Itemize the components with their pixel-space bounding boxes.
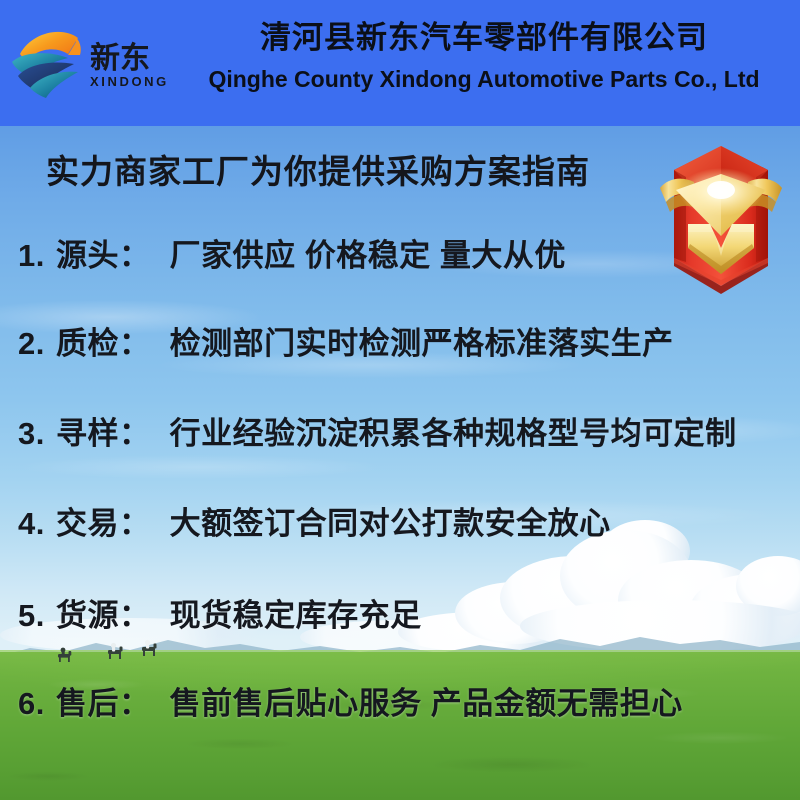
benefit-key: 质检： bbox=[56, 326, 151, 361]
benefit-item-3: 3. 寻样： 行业经验沉淀积累各种规格型号均可定制 bbox=[18, 408, 737, 453]
header-banner: 新东 XINDONG 清河县新东汽车零部件有限公司 Qinghe County … bbox=[0, 0, 800, 126]
benefit-text: 厂家供应 价格稳定 量大从优 bbox=[170, 238, 566, 273]
benefit-key: 源头： bbox=[56, 238, 151, 273]
benefit-key: 售后： bbox=[56, 686, 151, 721]
benefit-text: 检测部门实时检测严格标准落实生产 bbox=[170, 326, 674, 361]
brand-logo[interactable]: 新东 XINDONG bbox=[8, 24, 168, 102]
benefit-text: 行业经验沉淀积累各种规格型号均可定制 bbox=[170, 416, 737, 451]
benefit-text: 售前售后贴心服务 产品金额无需担心 bbox=[170, 686, 683, 721]
benefit-key: 寻样： bbox=[56, 416, 151, 451]
benefit-number: 4. bbox=[18, 506, 45, 541]
promo-poster: 新东 XINDONG 清河县新东汽车零部件有限公司 Qinghe County … bbox=[0, 0, 800, 800]
benefit-number: 5. bbox=[18, 598, 45, 633]
power-merchant-medal-icon bbox=[648, 132, 794, 300]
swoosh-globe-icon bbox=[12, 32, 81, 98]
benefit-text: 现货稳定库存充足 bbox=[170, 598, 422, 633]
benefit-number: 3. bbox=[18, 416, 45, 451]
benefit-key: 交易： bbox=[56, 506, 151, 541]
benefit-key: 货源： bbox=[56, 598, 151, 633]
company-name-cn: 清河县新东汽车零部件有限公司 bbox=[168, 14, 800, 62]
benefit-text: 大额签订合同对公打款安全放心 bbox=[170, 506, 611, 541]
logo-wordmark-cn: 新东 bbox=[90, 41, 150, 75]
benefit-number: 2. bbox=[18, 326, 45, 361]
banner-titles: 清河县新东汽车零部件有限公司 Qinghe County Xindong Aut… bbox=[168, 14, 800, 96]
company-name-en: Qinghe County Xindong Automotive Parts C… bbox=[168, 62, 800, 96]
benefit-number: 6. bbox=[18, 686, 45, 721]
benefit-item-6: 6. 售后： 售前售后贴心服务 产品金额无需担心 bbox=[18, 678, 683, 723]
benefit-number: 1. bbox=[18, 238, 45, 273]
benefit-item-4: 4. 交易： 大额签订合同对公打款安全放心 bbox=[18, 498, 611, 543]
grassland-foreground bbox=[0, 652, 800, 800]
page-title: 实力商家工厂为你提供采购方案指南 bbox=[46, 145, 590, 193]
benefit-item-1: 1. 源头： 厂家供应 价格稳定 量大从优 bbox=[18, 230, 566, 275]
logo-wordmark-en: XINDONG bbox=[90, 74, 168, 89]
benefit-item-5: 5. 货源： 现货稳定库存充足 bbox=[18, 590, 422, 635]
benefit-item-2: 2. 质检： 检测部门实时检测严格标准落实生产 bbox=[18, 318, 674, 363]
